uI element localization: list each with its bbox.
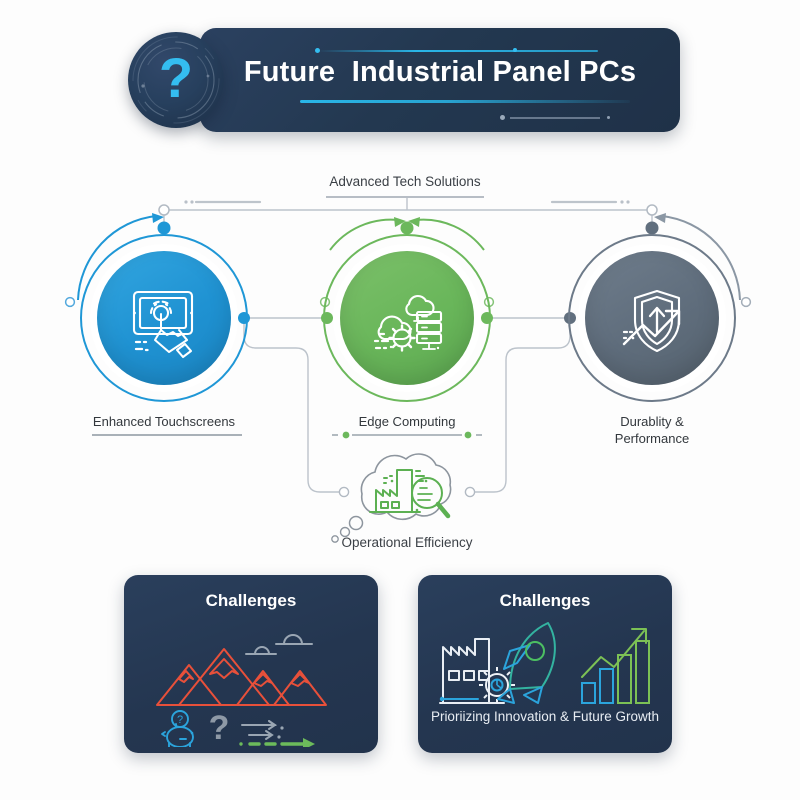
node-label-line1: Durablity & [620, 414, 684, 429]
cloud-server-gear-icon [357, 268, 457, 368]
card-title-right: Challenges [418, 591, 672, 611]
card-title-left: Challenges [124, 591, 378, 611]
piggy-question-glyph: ? [177, 714, 183, 726]
node-dot-durability [646, 222, 659, 235]
factory-magnifier-thought-icon [320, 440, 500, 550]
challenges-left-art: ? ? [124, 613, 378, 747]
challenges-right-art [418, 611, 672, 713]
node-edge-computing[interactable] [323, 234, 491, 402]
connector-endpoint-left [159, 205, 169, 215]
node-label-edge-computing: Edge Computing [307, 413, 507, 430]
node-label-durability-performance: Durablity & Performance [552, 413, 752, 447]
node-durability-performance[interactable] [568, 234, 736, 402]
connector-endpoint-right [647, 205, 657, 215]
thought-bubble [320, 440, 500, 550]
touchscreen-hand-icon [114, 268, 214, 368]
node-label-line2: Performance [615, 431, 689, 446]
node-disc [97, 251, 231, 385]
card-challenges-left[interactable]: Challenges [124, 575, 378, 753]
node-enhanced-touchscreens[interactable] [80, 234, 248, 402]
card-caption-right: Prioriizing Innovation & Future Growth [418, 709, 672, 724]
node-label-rule-edge [330, 430, 484, 440]
node-label-enhanced-touchscreens: Enhanced Touchscreens [64, 413, 264, 430]
thought-bubble-label: Operational Efficiency [307, 535, 507, 550]
node-disc [340, 251, 474, 385]
node-dot-edge [401, 222, 414, 235]
arrow-right-icon [303, 738, 315, 747]
shield-growth-arrow-icon [602, 268, 702, 368]
node-dot-touchscreens [158, 222, 171, 235]
node-disc [585, 251, 719, 385]
card-challenges-right[interactable]: Challenges [418, 575, 672, 753]
infographic-canvas: Future Industrial Panel PCs ? Advanced T… [0, 0, 800, 800]
node-label-rule-touchscreens [92, 434, 242, 436]
question-mark-icon: ? [209, 709, 230, 747]
